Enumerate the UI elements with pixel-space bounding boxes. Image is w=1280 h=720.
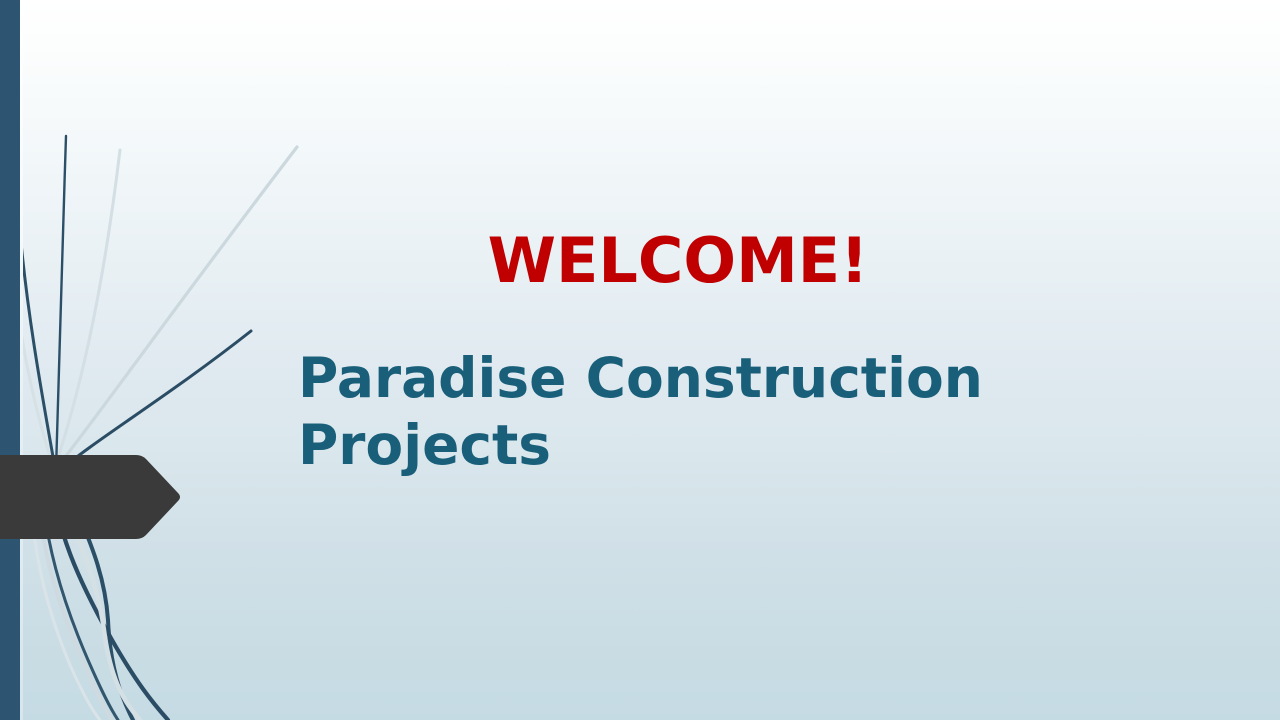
left-accent-bar-separator <box>20 0 23 720</box>
strand-dark-right <box>58 331 251 472</box>
strand-light-left <box>18 312 54 470</box>
left-accent-bar <box>0 0 20 720</box>
strand-light-upper <box>52 150 120 476</box>
strand-light-long <box>55 147 297 470</box>
slide-title: WELCOME! <box>298 228 1058 293</box>
slide-subtitle: Paradise Construction Projects <box>298 293 1038 479</box>
strand-dark-tall <box>56 136 66 470</box>
title-block: WELCOME! Paradise Construction Projects <box>298 228 1058 479</box>
arrow-banner-shape <box>0 455 182 539</box>
strand-dark-left <box>20 232 55 468</box>
presentation-slide: WELCOME! Paradise Construction Projects <box>0 0 1280 720</box>
